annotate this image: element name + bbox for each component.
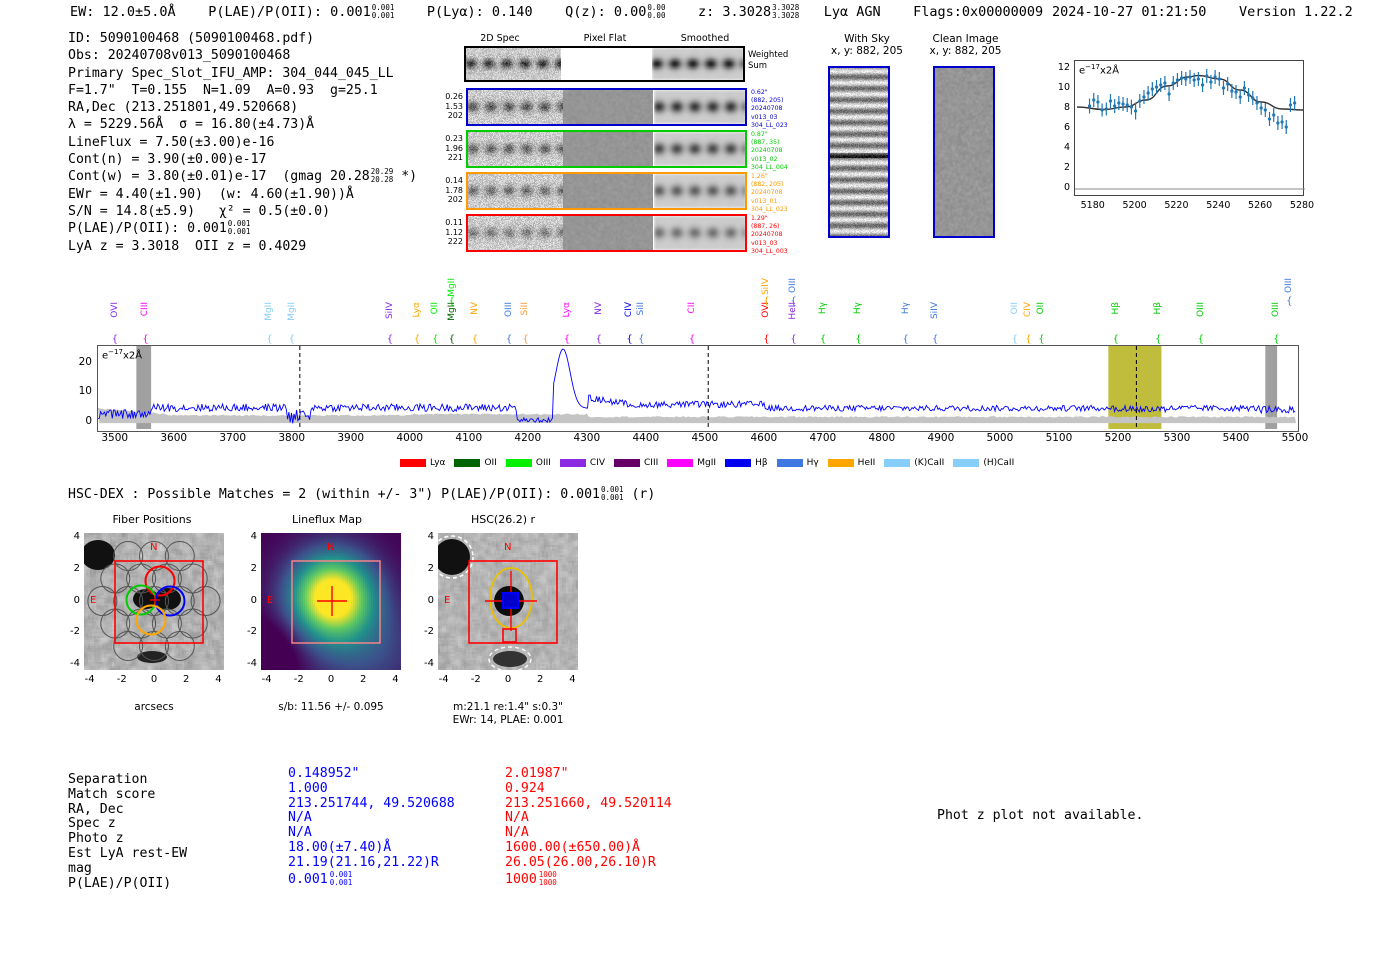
fiber-row-left-labels: 0.111.12222 [441,218,463,247]
match-table: Separation0.148952"2.01987"Match score1.… [68,773,708,898]
info-primary-spec: Primary Spec_Slot_IFU_AMP: 304_044_045_L… [68,65,417,82]
spectrum-line-bracket: { [1025,334,1031,345]
match-value-primary: 21.19(21.16,21.22)R [288,856,439,871]
line-profile-y-tick: 2 [1052,162,1070,173]
spectrum-x-tick: 5300 [1155,432,1199,444]
spectrum-legend-item: HeII [828,458,876,468]
spectrum-line-bracket: { [689,334,695,345]
fiber-meta: 0.62" [751,89,811,97]
fiber-row-right-labels: 0.62"(882, 205)20240708v013_03304_LL_023 [751,89,811,130]
spectrum-x-tick: 3500 [93,432,137,444]
match-value-secondary: 213.251660, 49.520114 [505,797,672,812]
with-sky-coords: x, y: 882, 205 [822,45,912,57]
cutout-x-tick: -4 [432,674,456,685]
info-seeing-throughput: F=1.7" T=0.155 N=1.09 A=0.93 g=25.1 [68,82,417,99]
cutout-y-tick: -4 [233,658,257,669]
fiber-row-panel [466,88,747,126]
info-sn-chi2: S/N = 14.8(±5.9) χ² = 0.5(±0.0) [68,203,417,220]
fiber-row-right-labels: 1.29"(887, 26)20240708v013_03304_LL_003 [751,215,811,256]
spectrum-line-label: SiII [636,302,646,316]
cutout-x-tick: 0 [142,674,166,685]
cutout-x-tick: -2 [287,674,311,685]
spectrum-x-tick: 4200 [506,432,550,444]
spectrum-line-bracket: { [1113,334,1119,345]
info-cont-n: Cont(n) = 3.90(±0.00)e-17 [68,151,417,168]
fiber-row-left-labels: 0.231.96221 [441,134,463,163]
cutout-x-tick: -2 [464,674,488,685]
spectrum-line-label: SiIV [930,302,940,319]
info-cont-w: Cont(w) = 3.80(±0.01)e-17 (gmag 20.2820.… [68,168,417,185]
fiber-meta: (882, 205) [751,97,811,105]
cutout-y-tick: 2 [410,563,434,574]
spectrum-legend-swatch [400,459,426,467]
spectrum-line-bracket: { [638,334,644,345]
info-ewr: EWr = 4.40(±1.90) (w: 4.60(±1.90))Å [68,186,417,203]
source-info-block: ID: 5090100468 (5090100468.pdf) Obs: 202… [68,30,417,255]
spectrum-line-bracket: { [472,334,478,345]
spectrum-legend-label: HeII [858,458,876,468]
spectrum-line-bracket: { [903,334,909,345]
spectrum-legend-swatch [777,459,803,467]
match-row-label: Photo z [68,832,124,847]
header-classification: Lyα AGN [824,4,881,20]
fiber-metric: 1.96 [441,144,463,154]
spectrum-legend-item: OII [454,458,496,468]
line-profile-chart: e−17x2Å 024681012 5180520052205240526052… [1038,56,1306,224]
header-flags: Flags:0x00000009 [913,4,1043,20]
spectrum-legend-label: CIII [644,458,658,468]
fiber-row-left-labels: 0.141.78202 [441,176,463,205]
fiber-meta: v013_02 [751,156,811,164]
fiber-meta: (882, 205) [751,181,811,189]
spectrum-legend-item: Lyα [400,458,445,468]
cutout-x-tick: 2 [174,674,198,685]
photz-message: Phot z plot not available. [937,808,1143,823]
spectrum-line-label: MgII [287,302,297,321]
spectrum-line-label: MgII [264,302,274,321]
fiber-metric: 202 [441,111,463,121]
with-sky-image [828,66,890,238]
line-profile-y-tick: 8 [1052,102,1070,113]
spectrum-legend-item: Hγ [777,458,819,468]
with-sky-title: With Sky [822,33,912,45]
spectrum-legend-swatch [667,459,693,467]
spectrum-x-tick: 4800 [860,432,904,444]
spectrum-line-bracket: { [142,334,148,345]
fiber-metric: 0.11 [441,218,463,228]
spectrum-line-label: OIII [1196,302,1206,317]
fiber-positions-title: Fiber Positions [67,513,237,526]
clean-image-coords: x, y: 882, 205 [918,45,1013,57]
spectrum-line-label: CIV [624,302,634,317]
spectrum-legend-swatch [560,459,586,467]
match-value-primary: N/A [288,826,312,841]
match-value-secondary: 2.01987" [505,767,569,782]
clean-image-header: Clean Image x, y: 882, 205 [918,33,1013,57]
fiber-meta: 304_LL_023 [751,122,811,130]
fiber-metric: 1.53 [441,102,463,112]
fiber-meta: (887, 26) [751,223,811,231]
match-value-secondary: 0.924 [505,782,545,797]
header-z: z: 3.3028 [698,4,771,20]
header-ew: EW: 12.0±5.0Å [70,4,176,20]
spectrum-line-label: OIII [1271,302,1281,317]
fiber-row-left-labels: 0.261.53202 [441,92,463,121]
spectrum-x-tick: 4300 [565,432,609,444]
fiber-metric: 0.23 [441,134,463,144]
cutout-axes: -4-4-2-2002244 [233,527,429,704]
fiber-meta: v013_03 [751,240,811,248]
spectrum-line-label: NV [594,302,604,315]
line-profile-y-tick: 0 [1052,182,1070,193]
match-value-primary: 0.0010.0010.001 [288,871,352,888]
line-profile-x-tick: 5180 [1073,200,1113,211]
spectrum-line-label: NV [470,302,480,315]
spectrum-y-tick: 0 [85,415,92,427]
spectrum-line-labels: OVI{CIII{MgII{MgII{SiIV{Lyα{OII{MgII{MgI… [97,276,1297,346]
spectrum-x-tick: 3900 [329,432,373,444]
title-smoothed: Smoothed [660,33,750,44]
spectrum-legend-label: Hγ [807,458,819,468]
spectrum-line-bracket: { [1198,334,1204,345]
fiber-meta: 1.26" [751,173,811,181]
spectrum-x-tick: 3700 [211,432,255,444]
title-2d-spec: 2D Spec [455,33,545,44]
spectrum-legend-item: Hβ [725,458,768,468]
fiber-row-right-labels: 1.26"(882, 205)20240708v013_01304_LL_023 [751,173,811,214]
match-value-primary: 18.00(±7.40)Å [288,841,391,856]
fiber-meta: (887, 35) [751,139,811,147]
hscdex-header: HSC-DEX : Possible Matches = 2 (within +… [68,486,655,502]
spectrum-y-tick: 20 [79,356,92,368]
spectrum-x-tick: 5400 [1214,432,1258,444]
spectrum-line-label: SiIV [385,302,395,319]
spectrum-line-label: OII [430,302,440,314]
info-lineflux: LineFlux = 7.50(±3.00)e-16 [68,134,417,151]
spectrum-line-bracket: { [932,334,938,345]
line-profile-x-tick: 5280 [1282,200,1322,211]
match-row-label: Est LyA rest-EW [68,847,187,862]
spectrum-legend-swatch [725,459,751,467]
fiber-metric: 0.14 [441,176,463,186]
spectrum-x-tick: 5500 [1273,432,1317,444]
spectrum-legend-label: OIII [536,458,551,468]
spectrum-x-tick: 4500 [683,432,727,444]
info-plae: P(LAE)/P(OII): 0.0010.0010.001 [68,220,417,237]
spectrum-line-bracket: { [289,334,295,345]
spectrum-legend-swatch [953,459,979,467]
cutout-x-tick: 0 [496,674,520,685]
hscdex-plae-range: 0.0010.001 [601,486,624,502]
spectrum-y-ticks: 01020 [70,345,96,430]
fiber-row-panel [466,172,747,210]
spectrum-legend-swatch [614,459,640,467]
spectrum-legend-swatch [454,459,480,467]
cutout-y-tick: 2 [56,563,80,574]
hsc-r-caption2: EWr: 14, PLAE: 0.001 [418,714,598,726]
spectrum-line-label: Hγ [901,302,911,314]
cutout-y-tick: 4 [233,531,257,542]
spectrum-line-label: SiII [520,302,530,316]
fiber-meta: 0.87" [751,131,811,139]
spectrum-y-tick: 10 [79,385,92,397]
match-row-label: Spec z [68,817,116,832]
cutout-y-tick: -4 [56,658,80,669]
spectrum-line-label: Hγ [818,302,828,314]
fiber-row-right-labels: 0.87"(887, 35)20240708v013_02304_LL_004 [751,131,811,172]
cutout-y-tick: 0 [56,595,80,606]
spectrum-legend-label: CIV [590,458,605,468]
info-redshifts: LyA z = 3.3018 OII z = 0.4029 [68,238,417,255]
fiber-metric: 202 [441,195,463,205]
spectrum-flux-annotation: e−17x2Å [102,348,142,361]
match-value-secondary: 1600.00(±650.00)Å [505,841,640,856]
spectrum-line-bracket: { [266,334,272,345]
match-value-primary: 1.000 [288,782,328,797]
header-timestamp-version: 2024-10-27 01:21:50 Version 1.22.2 [1052,4,1353,20]
spectrum-line-bracket: { [112,334,118,345]
match-value-secondary: 26.05(26.00,26.10)R [505,856,656,871]
cutout-x-tick: 2 [351,674,375,685]
line-profile-y-tick: 6 [1052,122,1070,133]
line-profile-plot-frame: e−17x2Å [1074,60,1304,196]
fiber-metric: 1.12 [441,228,463,238]
match-value-secondary: 100010001000 [505,871,557,888]
match-row-label: RA, Dec [68,803,124,818]
cutout-x-tick: -4 [78,674,102,685]
cutout-axes: -4-4-2-2002244 [410,527,606,704]
spectrum-line-label: MgII [447,278,457,297]
cutout-x-tick: 4 [383,674,407,685]
spectrum-line-label: OII [1010,302,1020,314]
spectrum-line-label: CII [687,302,697,314]
hsc-r-caption: m:21.1 re:1.4" s:0.3" [418,701,598,713]
spectrum-line-label: OII [1036,302,1046,314]
spectrum-line-bracket: { [763,296,769,307]
spectrum-x-tick: 5100 [1037,432,1081,444]
fiber-row-panel [466,130,747,168]
spectrum-line-bracket: { [820,334,826,345]
spectrum-line-label: CIII [140,302,150,316]
hsc-r-title: HSC(26.2) r [418,513,588,526]
full-spectrum-plot: e−17x2Å [97,345,1299,432]
fiber-meta: 304_LL_003 [751,248,811,256]
fiber-meta: 20240708 [751,105,811,113]
spectrum-line-label: OVI [110,302,120,318]
cutout-y-tick: 4 [56,531,80,542]
cutout-y-tick: -2 [56,626,80,637]
spectrum-line-label: OIII [788,278,798,293]
spectrum-line-bracket: { [564,334,570,345]
cutout-y-tick: -4 [410,658,434,669]
spectrum-line-bracket: { [855,334,861,345]
with-sky-header: With Sky x, y: 882, 205 [822,33,912,57]
match-value-secondary: N/A [505,826,529,841]
info-obs: Obs: 20240708v013_5090100468 [68,47,417,64]
match-row-label: mag [68,862,92,877]
fiber-row-panel [466,214,747,252]
clean-image [933,66,995,238]
spectrum-x-ticks: 3500360037003800390040004100420043004400… [97,431,1297,447]
fiber-meta: 304_LL_023 [751,206,811,214]
spectrum-line-label: SiIV [761,278,771,295]
fiber-metric: 221 [441,153,463,163]
spectrum-legend-swatch [506,459,532,467]
spectrum-x-tick: 5200 [1096,432,1140,444]
spectrum-x-tick: 4100 [447,432,491,444]
cutout-x-tick: 4 [206,674,230,685]
spectrum-line-bracket: { [522,334,528,345]
cutout-x-tick: 0 [319,674,343,685]
spectrum-line-bracket: { [432,334,438,345]
spectrum-legend-item: (H)CaII [953,458,1014,468]
line-profile-x-tick: 5200 [1115,200,1155,211]
spectrum-line-bracket: { [449,334,455,345]
header-qz: Q(z): 0.00 [565,4,646,20]
match-value-primary: 0.148952" [288,767,359,782]
line-profile-x-tick: 5240 [1198,200,1238,211]
spectrum-legend-label: MgII [697,458,716,468]
match-value-primary: 213.251744, 49.520688 [288,797,455,812]
line-profile-x-tick: 5220 [1156,200,1196,211]
spectrum-legend-item: CIII [614,458,658,468]
weighted-sum-label: WeightedSum [748,50,788,72]
spectrum-x-tick: 3800 [270,432,314,444]
cutout-axes: -4-4-2-2002244 [56,527,252,704]
spectrum-legend-label: OII [484,458,496,468]
spectrum-x-tick: 4700 [801,432,845,444]
fiber-meta: 20240708 [751,231,811,239]
spec2d-fiber-rows: 0.261.532020.62"(882, 205)20240708v013_0… [441,88,761,254]
spectrum-line-label: Hβ [1153,302,1163,315]
weighted-sum-panel [464,46,745,82]
clean-image-title: Clean Image [918,33,1013,45]
info-radec: RA,Dec (213.251801,49.520668) [68,99,417,116]
spectrum-line-bracket: { [387,334,393,345]
spectrum-line-label: MgII [447,302,457,321]
info-gmag-range: 20.2920.28 [371,168,394,184]
match-row-label: Separation [68,773,147,788]
spectrum-legend-swatch [828,459,854,467]
fiber-meta: 20240708 [751,147,811,155]
spectrum-line-label: CIV [1023,302,1033,317]
header-z-range: 3.30283.3028 [772,4,799,20]
info-wavelength-sigma: λ = 5229.56Å σ = 16.80(±4.73)Å [68,116,417,133]
fiber-meta: 1.29" [751,215,811,223]
header-qz-range: 0.000.00 [647,4,665,20]
info-id: ID: 5090100468 (5090100468.pdf) [68,30,417,47]
match-row-label: P(LAE)/P(OII) [68,877,171,892]
spectrum-legend-item: OIII [506,458,551,468]
cutout-x-tick: 4 [560,674,584,685]
cutout-y-tick: 2 [233,563,257,574]
spectrum-legend-swatch [884,459,910,467]
spectrum-x-tick: 4600 [742,432,786,444]
line-profile-y-tick: 12 [1052,62,1070,73]
title-pixel-flat: Pixel Flat [560,33,650,44]
spectrum-line-bracket: { [1155,334,1161,345]
spectrum-line-label: OIII [504,302,514,317]
info-plae-range: 0.0010.001 [228,220,251,236]
spectrum-line-bracket: { [1286,296,1292,307]
spectrum-line-bracket: { [596,334,602,345]
fiber-meta: v013_01 [751,198,811,206]
spectrum-legend-item: CIV [560,458,605,468]
spectrum-legend-label: (K)CaII [914,458,944,468]
spectrum-line-bracket: { [506,334,512,345]
fiber-meta: 20240708 [751,189,811,197]
cutout-x-tick: -2 [110,674,134,685]
spectrum-line-label: Hβ [1111,302,1121,315]
match-row-label: Match score [68,788,155,803]
match-value-primary: N/A [288,811,312,826]
line-profile-y-tick: 4 [1052,142,1070,153]
spectrum-x-tick: 3600 [152,432,196,444]
spectrum-x-tick: 4400 [624,432,668,444]
lineflux-map-title: Lineflux Map [242,513,412,526]
header-plae-label: P(LAE)/P(OII): 0.001 [208,4,371,20]
spectrum-line-label: Hγ [853,302,863,314]
spectrum-line-bracket: { [626,334,632,345]
spectrum-legend-item: (K)CaII [884,458,944,468]
spectrum-x-tick: 4000 [388,432,432,444]
spectrum-x-tick: 5000 [978,432,1022,444]
spectrum-legend-label: Hβ [755,458,768,468]
line-profile-y-tick: 10 [1052,82,1070,93]
spectrum-line-label: Lyα [562,302,572,317]
header-summary-line: EW: 12.0±5.0Å P(LAE)/P(OII): 0.0010.0010… [70,4,1043,20]
spectrum-legend-label: Lyα [430,458,445,468]
lineflux-map-caption: s/b: 11.56 +/- 0.095 [241,701,421,713]
spectrum-line-label: Lyα [412,302,422,317]
fiber-metric: 0.26 [441,92,463,102]
cutout-y-tick: 4 [410,531,434,542]
cutout-y-tick: 0 [233,595,257,606]
spectrum-line-bracket: { [1012,334,1018,345]
fiber-metric: 1.78 [441,186,463,196]
spec2d-column-titles: 2D Spec Pixel Flat Smoothed [455,33,755,47]
fiber-meta: 304_LL_004 [751,164,811,172]
spectrum-line-bracket: { [763,334,769,345]
spectrum-line-bracket: { [790,296,796,307]
cutout-y-tick: -2 [233,626,257,637]
spectrum-line-bracket: { [414,334,420,345]
spectrum-legend: LyαOIIOIIICIVCIIIMgIIHβHγHeII(K)CaII(H)C… [400,452,1020,466]
match-value-secondary: N/A [505,811,529,826]
cutout-x-tick: 2 [528,674,552,685]
header-plae-range: 0.0010.001 [372,4,395,20]
header-datetime: 2024-10-27 01:21:50 [1052,4,1206,20]
header-version: Version 1.22.2 [1239,4,1353,20]
spectrum-line-bracket: { [1273,334,1279,345]
spectrum-line-label: OIII [1284,278,1294,293]
spectrum-line-bracket: { [1038,334,1044,345]
spectrum-legend-label: (H)CaII [983,458,1014,468]
cutout-x-tick: -4 [255,674,279,685]
spectrum-x-tick: 4900 [919,432,963,444]
header-plya: P(Lyα): 0.140 [427,4,533,20]
cutout-y-tick: 0 [410,595,434,606]
fiber-positions-caption: arcsecs [84,701,224,713]
fiber-meta: v013_03 [751,114,811,122]
fiber-metric: 222 [441,237,463,247]
cutout-y-tick: -2 [410,626,434,637]
spectrum-legend-item: MgII [667,458,716,468]
line-profile-x-tick: 5260 [1240,200,1280,211]
spectrum-line-bracket: { [790,334,796,345]
